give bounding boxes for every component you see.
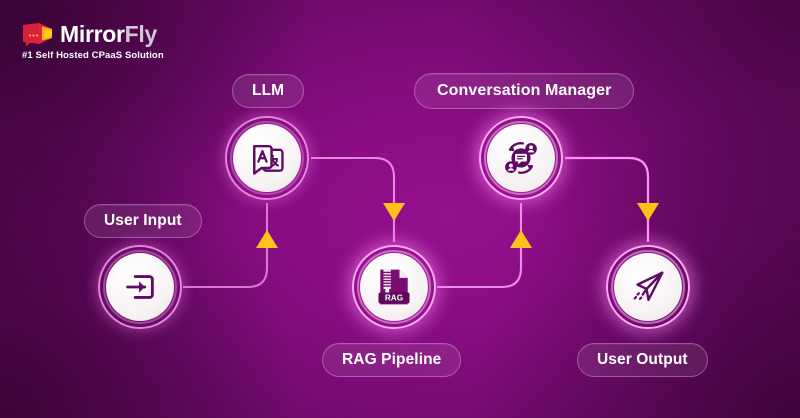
logo-row: MirrorFly (22, 22, 164, 47)
node-llm[interactable] (225, 116, 309, 200)
node-label-user-input[interactable]: User Input (84, 204, 202, 238)
node-disc (614, 253, 682, 321)
paper-plane-send-icon (627, 266, 669, 308)
node-label-conversation-manager[interactable]: Conversation Manager (414, 73, 634, 109)
connector-rag-to-manager (437, 203, 521, 287)
arrow-up-marker-input-to-llm (256, 230, 278, 248)
connector-llm-to-rag (311, 158, 394, 242)
logo-word-secondary: Fly (125, 21, 157, 47)
node-label-rag-pipeline[interactable]: RAG Pipeline (322, 343, 461, 377)
node-conversation-manager[interactable] (479, 116, 563, 200)
rag-icon-text: RAG (385, 294, 403, 303)
logo-word-primary: Mirror (60, 21, 125, 47)
brand-tagline: #1 Self Hosted CPaaS Solution (22, 50, 164, 61)
login-enter-icon (121, 268, 159, 306)
mirrorfly-logo-icon (22, 22, 53, 47)
arrow-down-marker-llm-to-rag (383, 203, 405, 221)
node-disc (106, 253, 174, 321)
rag-document-file-icon: RAG (374, 266, 414, 308)
node-disc (233, 124, 301, 192)
node-user-input[interactable] (98, 245, 182, 329)
node-label-llm[interactable]: LLM (232, 74, 304, 108)
arrow-down-marker-manager-to-output (637, 203, 659, 221)
brand-logo: MirrorFly #1 Self Hosted CPaaS Solution (22, 22, 164, 61)
conversation-cycle-icon (500, 137, 542, 179)
node-rag-pipeline[interactable]: RAG (352, 245, 436, 329)
node-label-user-output[interactable]: User Output (577, 343, 708, 377)
logo-wordmark: MirrorFly (60, 23, 157, 46)
node-disc (487, 124, 555, 192)
node-user-output[interactable] (606, 245, 690, 329)
translate-language-icon (247, 138, 287, 178)
diagram-canvas: MirrorFly #1 Self Hosted CPaaS Solution … (0, 0, 800, 418)
arrow-up-marker-rag-to-manager (510, 230, 532, 248)
node-disc: RAG (360, 253, 428, 321)
connector-manager-to-output (565, 158, 648, 242)
